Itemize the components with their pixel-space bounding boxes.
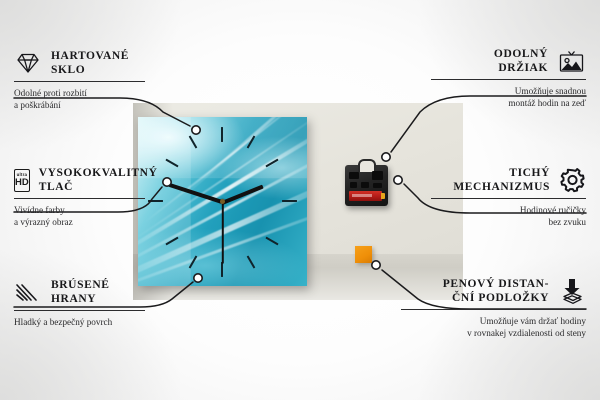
feature-divider — [14, 81, 145, 82]
feature-title-line2: DRŽIAK — [494, 61, 548, 75]
feature-description: Umožňuje snadnou montáž hodin na zeď — [431, 85, 586, 110]
feature-high-quality-print: ultra HD VYSOKOKVALITNÝ TLAČ Vivídne far… — [14, 166, 145, 229]
feature-desc-line2: a poškrábání — [14, 99, 145, 111]
feature-ground-edges: BRÚSENÉ HRANY Hladký a bezpečný povrch — [14, 278, 145, 328]
connector-dot-left-middle — [163, 178, 171, 186]
feature-title: PENOVÝ DISTAN- ČNÍ PODLOŽKY — [443, 277, 549, 305]
feature-desc-line2: v rovnakej vzdialenosti od steny — [401, 327, 586, 339]
feature-tempered-glass: HARTOVANÉ SKLO Odolné proti rozbití a po… — [14, 49, 145, 112]
feature-desc-line1: Hladký a bezpečný povrch — [14, 316, 145, 328]
feature-title-line2: HRANY — [51, 292, 110, 306]
feature-durable-hanger: ODOLNÝ DRŽIAK Umožňuje snadnou montáž ho… — [431, 47, 586, 110]
feature-silent-mechanism: TICHÝ MECHANIZMUS Hodinové ručičky bez z… — [431, 166, 586, 229]
feature-title-line1: HARTOVANÉ — [51, 49, 129, 63]
feature-divider — [431, 79, 586, 80]
connector-dot-left-top — [192, 126, 200, 134]
feature-title: BRÚSENÉ HRANY — [51, 278, 110, 306]
feature-description: Umožňuje vám držať hodiny v rovnakej vzd… — [401, 315, 586, 340]
feature-description: Odolné proti rozbití a poškrábání — [14, 87, 145, 112]
feature-divider — [14, 198, 145, 199]
infographic-canvas: HARTOVANÉ SKLO Odolné proti rozbití a po… — [0, 0, 600, 400]
feature-title: HARTOVANÉ SKLO — [51, 49, 129, 77]
feature-desc-line1: Hodinové ručičky — [431, 204, 586, 216]
ultra-hd-badge-bottom-text: HD — [15, 178, 29, 188]
gear-icon — [559, 167, 586, 193]
feature-desc-line2: a výrazný obraz — [14, 216, 145, 228]
feature-desc-line2: bez zvuku — [431, 216, 586, 228]
feature-title-line2: MECHANIZMUS — [453, 180, 550, 194]
feature-description: Hodinové ručičky bez zvuku — [431, 204, 586, 229]
feature-desc-line2: montáž hodin na zeď — [431, 97, 586, 109]
feature-title-line1: BRÚSENÉ — [51, 278, 110, 292]
feature-title-line1: VYSOKOKVALITNÝ — [39, 166, 158, 180]
feature-divider — [401, 309, 586, 310]
feature-desc-line1: Umožňuje vám držať hodiny — [401, 315, 586, 327]
diamond-icon — [14, 51, 42, 75]
connector-dot-right-top — [382, 153, 390, 161]
feature-desc-line1: Odolné proti rozbití — [14, 87, 145, 99]
feature-divider — [14, 310, 145, 311]
feature-title: ODOLNÝ DRŽIAK — [494, 47, 548, 75]
connector-dot-right-middle — [394, 176, 402, 184]
feature-title-line1: PENOVÝ DISTAN- — [443, 277, 549, 291]
feature-description: Hladký a bezpečný povrch — [14, 316, 145, 328]
ground-edges-icon — [14, 281, 42, 304]
feature-title-line1: TICHÝ — [453, 166, 550, 180]
ultra-hd-badge-icon: ultra HD — [14, 169, 30, 192]
feature-title-line2: SKLO — [51, 63, 129, 77]
feature-description: Vivídne farby a výrazný obraz — [14, 204, 145, 229]
feature-title-line2: ČNÍ PODLOŽKY — [443, 291, 549, 305]
feature-title-line1: ODOLNÝ — [494, 47, 548, 61]
connector-dot-right-bottom — [372, 261, 380, 269]
connector-dot-left-bottom — [194, 274, 202, 282]
feature-desc-line1: Umožňuje snadnou — [431, 85, 586, 97]
feature-divider — [431, 198, 586, 199]
feature-title-line2: TLAČ — [39, 180, 158, 194]
wall-mount-frame-icon — [557, 49, 586, 74]
feature-title: TICHÝ MECHANIZMUS — [453, 166, 550, 194]
feature-title: VYSOKOKVALITNÝ TLAČ — [39, 166, 158, 194]
feature-foam-spacers: PENOVÝ DISTAN- ČNÍ PODLOŽKY Umožňuje vám… — [401, 277, 586, 340]
arrow-down-stack-icon — [558, 278, 586, 304]
feature-desc-line1: Vivídne farby — [14, 204, 145, 216]
